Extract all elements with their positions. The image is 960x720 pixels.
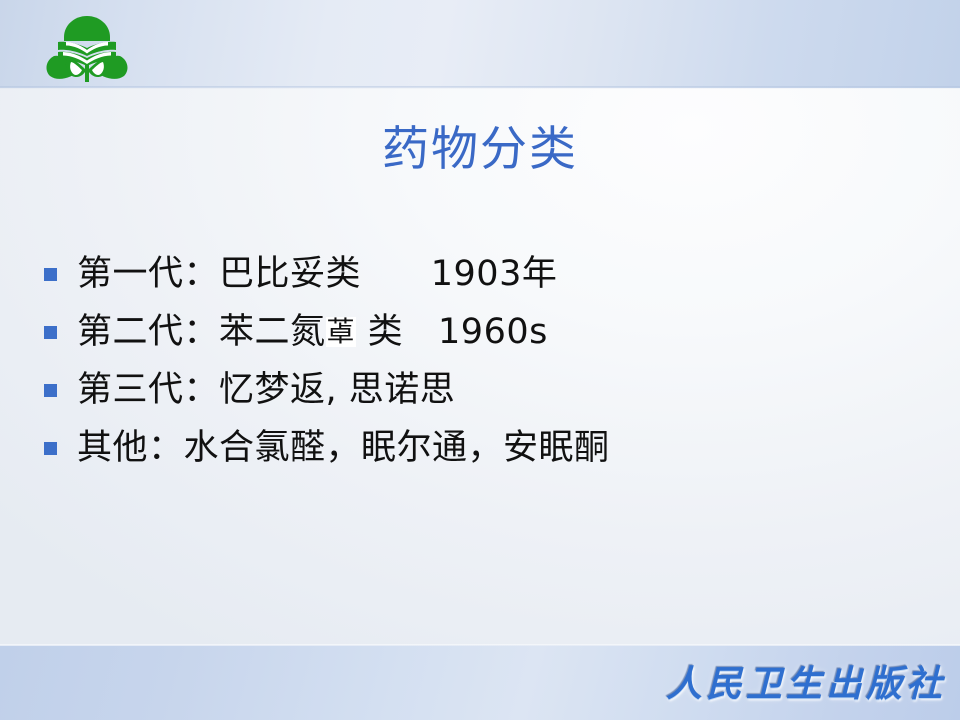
list-item: 第一代：巴比妥类 1903年 bbox=[44, 248, 924, 306]
header-band bbox=[0, 0, 960, 88]
presentation-slide: 药物分类 第一代：巴比妥类 1903年 第二代：苯二氮䓬 类 1960s 第三代… bbox=[0, 0, 960, 720]
list-item: 第二代：苯二氮䓬 类 1960s bbox=[44, 306, 924, 364]
list-item-text: 第二代：苯二氮䓬 类 1960s bbox=[77, 306, 924, 358]
square-bullet-icon bbox=[44, 326, 57, 339]
list-item-text-post: 类 1960s bbox=[356, 312, 548, 352]
list-item-text-pre: 第三代：忆梦返, 思诺思 bbox=[77, 370, 455, 410]
list-item-text-pre: 第一代：巴比妥类 bbox=[77, 254, 361, 294]
list-item: 第三代：忆梦返, 思诺思 bbox=[44, 364, 924, 422]
header-band-divider bbox=[0, 86, 960, 89]
list-item-text: 其他：水合氯醛，眠尔通，安眠酮 bbox=[77, 422, 924, 474]
list-item-text: 第一代：巴比妥类 1903年 bbox=[77, 248, 924, 300]
publisher-wordmark: 人民卫生出版社 bbox=[666, 658, 946, 710]
square-bullet-icon bbox=[44, 442, 57, 455]
list-item-text-pre: 其他：水合氯醛，眠尔通，安眠酮 bbox=[77, 428, 610, 468]
list-item-text-post: 1903年 bbox=[361, 254, 557, 294]
list-item: 其他：水合氯醛，眠尔通，安眠酮 bbox=[44, 422, 924, 480]
square-bullet-icon bbox=[44, 268, 57, 281]
plant-logo-icon bbox=[44, 12, 130, 84]
square-bullet-icon bbox=[44, 384, 57, 397]
slide-title: 药物分类 bbox=[0, 121, 960, 179]
content-bullet-list: 第一代：巴比妥类 1903年 第二代：苯二氮䓬 类 1960s 第三代：忆梦返,… bbox=[44, 248, 924, 480]
list-item-text-pre: 第二代：苯二氮 bbox=[77, 312, 326, 352]
list-item-text: 第三代：忆梦返, 思诺思 bbox=[77, 364, 924, 416]
inset-glyph: 䓬 bbox=[326, 317, 357, 347]
publisher-logo bbox=[44, 12, 130, 84]
